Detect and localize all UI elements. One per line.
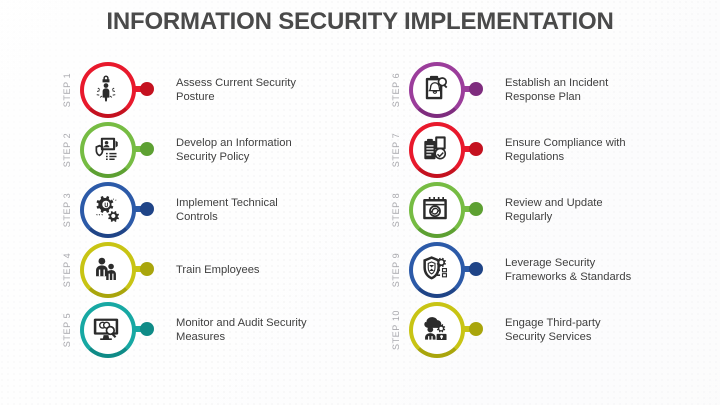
- step-node[interactable]: [78, 180, 172, 240]
- step-node[interactable]: [407, 240, 501, 300]
- step-number-text: STEP 8: [391, 193, 401, 227]
- step-row[interactable]: STEP 8 Review and UpdateRegularly: [385, 180, 720, 240]
- monitor-magnifier-audit-icon: [78, 300, 134, 356]
- steps-column-left: STEP 1 Assess Current SecurityPostureSTE…: [56, 60, 396, 360]
- step-number-text: STEP 5: [62, 313, 72, 347]
- step-description-line1: Develop an Information: [176, 137, 292, 149]
- step-description-line2: Security Services: [505, 330, 720, 345]
- step-description: Train Employees: [172, 263, 396, 278]
- person-gear-thirdparty-icon: [407, 300, 463, 356]
- step-description: Assess Current SecurityPosture: [172, 76, 396, 105]
- step-row[interactable]: STEP 5 Monitor and Audit SecurityMeasure…: [56, 300, 396, 360]
- shield-gear-framework-icon: [407, 240, 463, 296]
- connector-dot: [140, 142, 154, 156]
- two-people-training-icon: [78, 240, 134, 296]
- step-number-label: STEP 5: [56, 301, 78, 359]
- step-description-line1: Assess Current Security: [176, 77, 296, 89]
- step-node[interactable]: [407, 120, 501, 180]
- step-description-line2: Regulations: [505, 150, 720, 165]
- step-description-line2: Security Policy: [176, 150, 396, 165]
- step-node[interactable]: [407, 180, 501, 240]
- step-node[interactable]: [78, 300, 172, 360]
- step-description: Ensure Compliance withRegulations: [501, 136, 720, 165]
- step-number-label: STEP 1: [56, 61, 78, 119]
- connector-dot: [469, 82, 483, 96]
- step-row[interactable]: STEP 10 Engage Third-partySecurity Servi…: [385, 300, 720, 360]
- step-description-line1: Leverage Security: [505, 257, 595, 269]
- step-description-line1: Train Employees: [176, 264, 260, 276]
- step-row[interactable]: STEP 2 Develop an InformationSecurity Po…: [56, 120, 396, 180]
- connector-dot: [140, 262, 154, 276]
- step-node[interactable]: [78, 120, 172, 180]
- connector-dot: [140, 82, 154, 96]
- clipboard-checkmark-compliance-icon: [407, 120, 463, 176]
- step-description: Establish an IncidentResponse Plan: [501, 76, 720, 105]
- step-number-text: STEP 9: [391, 253, 401, 287]
- step-number-text: STEP 6: [391, 73, 401, 107]
- connector-dot: [469, 322, 483, 336]
- step-row[interactable]: STEP 7 Ensure Compliance withRegulations: [385, 120, 720, 180]
- step-number-text: STEP 4: [62, 253, 72, 287]
- step-description-line2: Measures: [176, 330, 396, 345]
- step-number-label: STEP 8: [385, 181, 407, 239]
- steps-column-right: STEP 6 Establish an IncidentResponse Pla…: [385, 60, 720, 360]
- step-description: Monitor and Audit SecurityMeasures: [172, 316, 396, 345]
- step-description-line2: Posture: [176, 90, 396, 105]
- page-title: INFORMATION SECURITY IMPLEMENTATION: [0, 8, 720, 36]
- connector-dot: [140, 202, 154, 216]
- step-number-label: STEP 6: [385, 61, 407, 119]
- clipboard-alarm-incident-icon: [407, 60, 463, 116]
- step-number-text: STEP 7: [391, 133, 401, 167]
- step-description-line1: Engage Third-party: [505, 317, 601, 329]
- person-lock-radar-icon: [78, 60, 134, 116]
- step-description-line1: Ensure Compliance with: [505, 137, 626, 149]
- step-description-line2: Regularly: [505, 210, 720, 225]
- connector-dot: [469, 262, 483, 276]
- calendar-refresh-update-icon: [407, 180, 463, 236]
- step-description-line1: Implement Technical: [176, 197, 278, 209]
- step-node[interactable]: [78, 240, 172, 300]
- step-number-text: STEP 10: [391, 310, 401, 350]
- step-node[interactable]: [78, 60, 172, 120]
- step-number-label: STEP 10: [385, 301, 407, 359]
- step-node[interactable]: [407, 300, 501, 360]
- step-row[interactable]: STEP 6 Establish an IncidentResponse Pla…: [385, 60, 720, 120]
- step-row[interactable]: STEP 3 Implement TechnicalControls: [56, 180, 396, 240]
- step-number-text: STEP 3: [62, 193, 72, 227]
- step-number-text: STEP 2: [62, 133, 72, 167]
- gears-settings-icon: [78, 180, 134, 236]
- step-description-line1: Establish an Incident: [505, 77, 608, 89]
- step-description: Leverage SecurityFrameworks & Standards: [501, 256, 720, 285]
- step-description-line2: Response Plan: [505, 90, 720, 105]
- step-node[interactable]: [407, 60, 501, 120]
- document-shield-policy-icon: [78, 120, 134, 176]
- step-number-label: STEP 9: [385, 241, 407, 299]
- connector-dot: [469, 202, 483, 216]
- step-description: Develop an InformationSecurity Policy: [172, 136, 396, 165]
- step-number-text: STEP 1: [62, 73, 72, 107]
- step-description: Engage Third-partySecurity Services: [501, 316, 720, 345]
- step-description-line2: Controls: [176, 210, 396, 225]
- step-description: Implement TechnicalControls: [172, 196, 396, 225]
- step-row[interactable]: STEP 1 Assess Current SecurityPosture: [56, 60, 396, 120]
- step-description-line2: Frameworks & Standards: [505, 270, 720, 285]
- connector-dot: [140, 322, 154, 336]
- step-row[interactable]: STEP 9 Leverage SecurityFrameworks & Sta…: [385, 240, 720, 300]
- step-row[interactable]: STEP 4 Train Employees: [56, 240, 396, 300]
- step-description-line1: Review and Update: [505, 197, 603, 209]
- step-number-label: STEP 4: [56, 241, 78, 299]
- step-number-label: STEP 3: [56, 181, 78, 239]
- step-number-label: STEP 7: [385, 121, 407, 179]
- step-description-line1: Monitor and Audit Security: [176, 317, 307, 329]
- step-description: Review and UpdateRegularly: [501, 196, 720, 225]
- connector-dot: [469, 142, 483, 156]
- step-number-label: STEP 2: [56, 121, 78, 179]
